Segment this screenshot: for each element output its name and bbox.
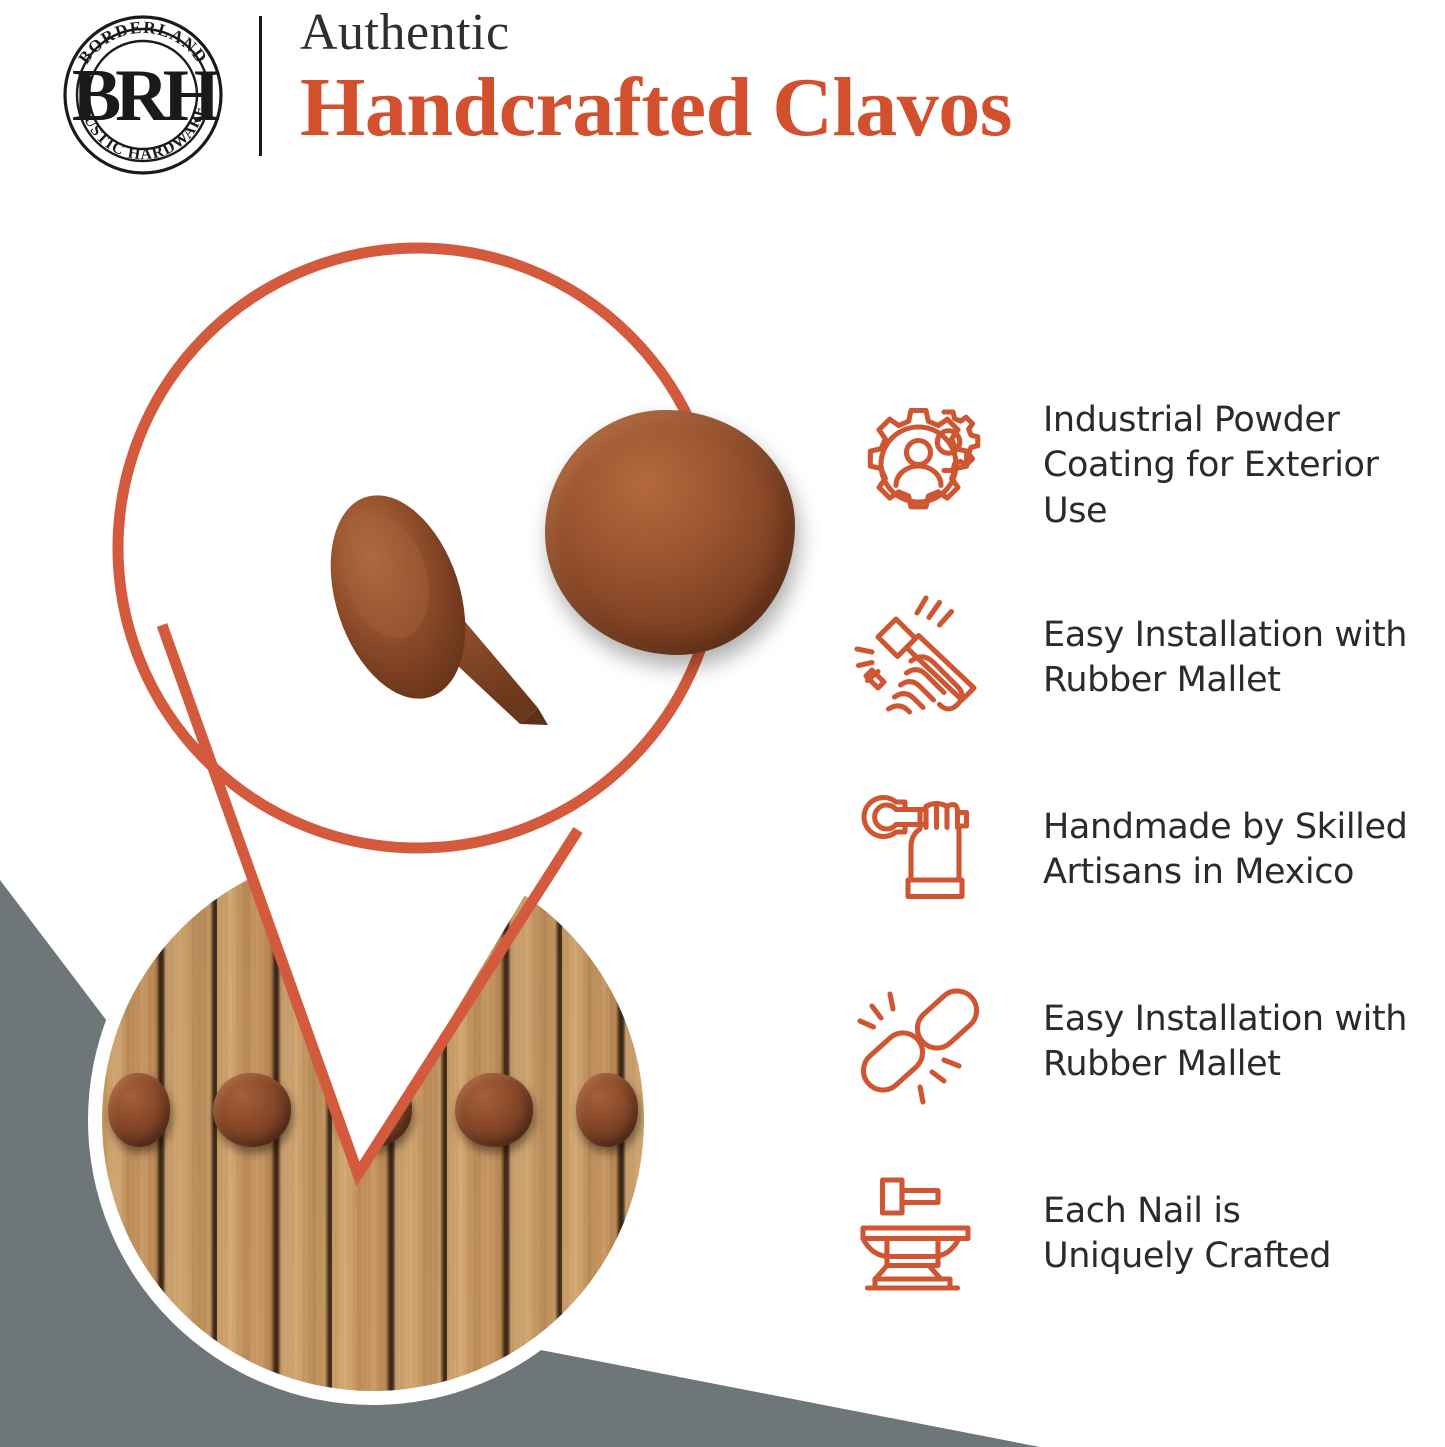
feature-label: Industrial Powder Coating for Exterior U… (1043, 398, 1445, 535)
header: BORDERLAND RUSTIC HARDWARE BRH Authentic… (0, 0, 1445, 190)
header-divider (259, 16, 262, 156)
feature-item: Each Nail is Uniquely Crafted (845, 1138, 1445, 1330)
feature-label: Handmade by Skilled Artisans in Mexico (1043, 805, 1407, 896)
page-title: Handcrafted Clavos (300, 61, 1012, 155)
gear-person-icon (845, 391, 995, 541)
title-block: Authentic Handcrafted Clavos (300, 6, 1012, 155)
magnifier-callout (110, 230, 800, 1190)
brand-logo: BORDERLAND RUSTIC HARDWARE BRH (58, 12, 228, 177)
feature-label: Easy Installation with Rubber Mallet (1043, 613, 1407, 704)
chain-link-icon (845, 967, 995, 1117)
feature-list: Industrial Powder Coating for Exterior U… (845, 370, 1445, 1330)
feature-item: Easy Installation with Rubber Mallet (845, 946, 1445, 1138)
feature-label: Each Nail is Uniquely Crafted (1043, 1189, 1331, 1280)
product-imagery (0, 190, 830, 1447)
title-eyebrow: Authentic (300, 6, 1012, 61)
feature-item: Handmade by Skilled Artisans in Mexico (845, 754, 1445, 946)
feature-item: Industrial Powder Coating for Exterior U… (845, 370, 1445, 562)
clavo-side-view (290, 480, 610, 770)
fist-wrench-icon (845, 775, 995, 925)
hand-mallet-icon (845, 583, 995, 733)
feature-label: Easy Installation with Rubber Mallet (1043, 997, 1407, 1088)
logo-monogram: BRH (72, 55, 220, 137)
anvil-hammer-icon (845, 1159, 995, 1309)
feature-item: Easy Installation with Rubber Mallet (845, 562, 1445, 754)
